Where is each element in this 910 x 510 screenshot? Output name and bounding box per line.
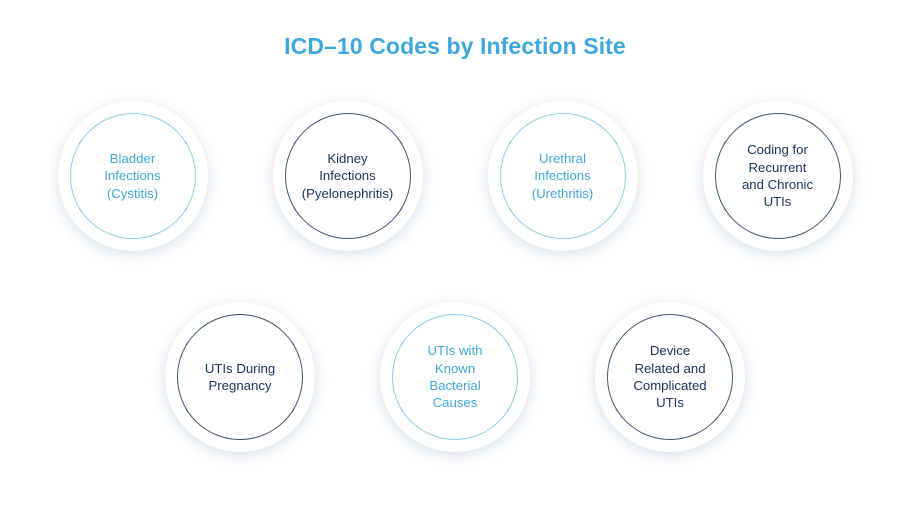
infographic-canvas: ICD–10 Codes by Infection Site Bladder I…	[0, 0, 910, 510]
page-title: ICD–10 Codes by Infection Site	[0, 30, 910, 62]
circle-row-2: UTIs During Pregnancy UTIs with Known Ba…	[0, 296, 910, 458]
circle-row-1: Bladder Infections (Cystitis) Kidney Inf…	[0, 95, 910, 257]
circle-node-label: Coding for Recurrent and Chronic UTIs	[697, 95, 859, 257]
circle-node-label: Urethral Infections (Urethritis)	[482, 95, 644, 257]
circle-node-recurrent-chronic-utis[interactable]: Coding for Recurrent and Chronic UTIs	[697, 95, 859, 257]
circle-node-device-related-complicated-utis[interactable]: Device Related and Complicated UTIs	[589, 296, 751, 458]
circle-node-kidney-infections[interactable]: Kidney Infections (Pyelonephritis)	[267, 95, 429, 257]
circle-node-label: Bladder Infections (Cystitis)	[52, 95, 214, 257]
circle-node-label: UTIs During Pregnancy	[159, 296, 321, 458]
circle-node-utis-during-pregnancy[interactable]: UTIs During Pregnancy	[159, 296, 321, 458]
circle-node-label: Kidney Infections (Pyelonephritis)	[267, 95, 429, 257]
circle-node-known-bacterial-causes[interactable]: UTIs with Known Bacterial Causes	[374, 296, 536, 458]
circle-grid: Bladder Infections (Cystitis) Kidney Inf…	[0, 95, 910, 458]
circle-node-label: Device Related and Complicated UTIs	[589, 296, 751, 458]
circle-node-urethral-infections[interactable]: Urethral Infections (Urethritis)	[482, 95, 644, 257]
circle-node-bladder-infections[interactable]: Bladder Infections (Cystitis)	[52, 95, 214, 257]
circle-node-label: UTIs with Known Bacterial Causes	[374, 296, 536, 458]
